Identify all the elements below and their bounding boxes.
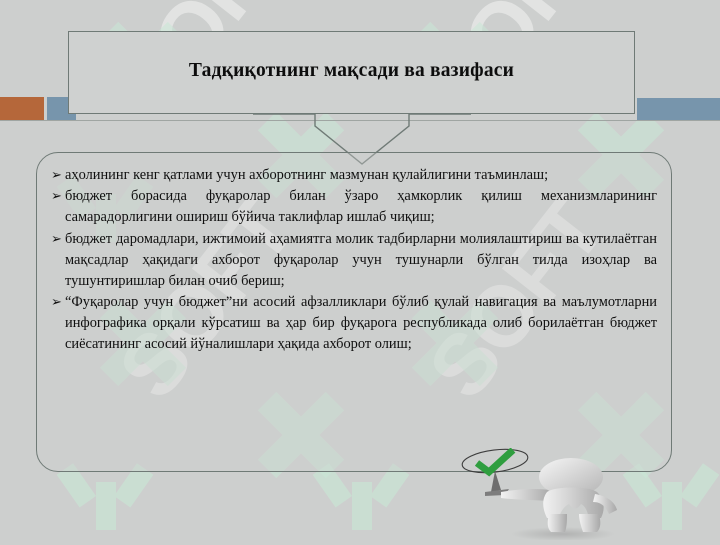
list-item: ➢ аҳолининг кенг қатлами учун ахборотнин… [51,165,657,186]
list-item-text: аҳолининг кенг қатлами учун ахборотнинг … [65,167,548,183]
bullet-list: ➢ аҳолининг кенг қатлами учун ахборотнин… [51,165,657,356]
bullet-arrow-icon: ➢ [51,186,62,206]
content-box: ➢ аҳолининг кенг қатлами учун ахборотнин… [36,152,672,472]
list-item-text: бюджет борасида фуқаролар билан ўзаро ҳа… [65,188,657,225]
accent-bar-blue-right [637,98,720,120]
list-item-text: бюджет даромадлари, ижтимоий аҳамиятга м… [65,231,657,289]
mannequin-artwork [455,448,640,540]
list-item-text: “Фуқаролар учун бюджет”ни асосий афзалли… [65,294,657,352]
mannequin-holding-checkmark-icon [455,448,640,540]
list-item: ➢ “Фуқаролар учун бюджет”ни асосий афзал… [51,292,657,356]
list-item: ➢ бюджет даромадлари, ижтимоий аҳамиятга… [51,229,657,293]
bullet-arrow-icon: ➢ [51,165,62,185]
title-box: Тадқиқотнинг мақсади ва вазифаси [68,31,635,114]
bullet-arrow-icon: ➢ [51,229,62,249]
accent-bar-orange [0,97,44,120]
page-title: Тадқиқотнинг мақсади ва вазифаси [189,60,514,86]
list-item: ➢ бюджет борасида фуқаролар билан ўзаро … [51,186,657,228]
bullet-arrow-icon: ➢ [51,292,62,312]
